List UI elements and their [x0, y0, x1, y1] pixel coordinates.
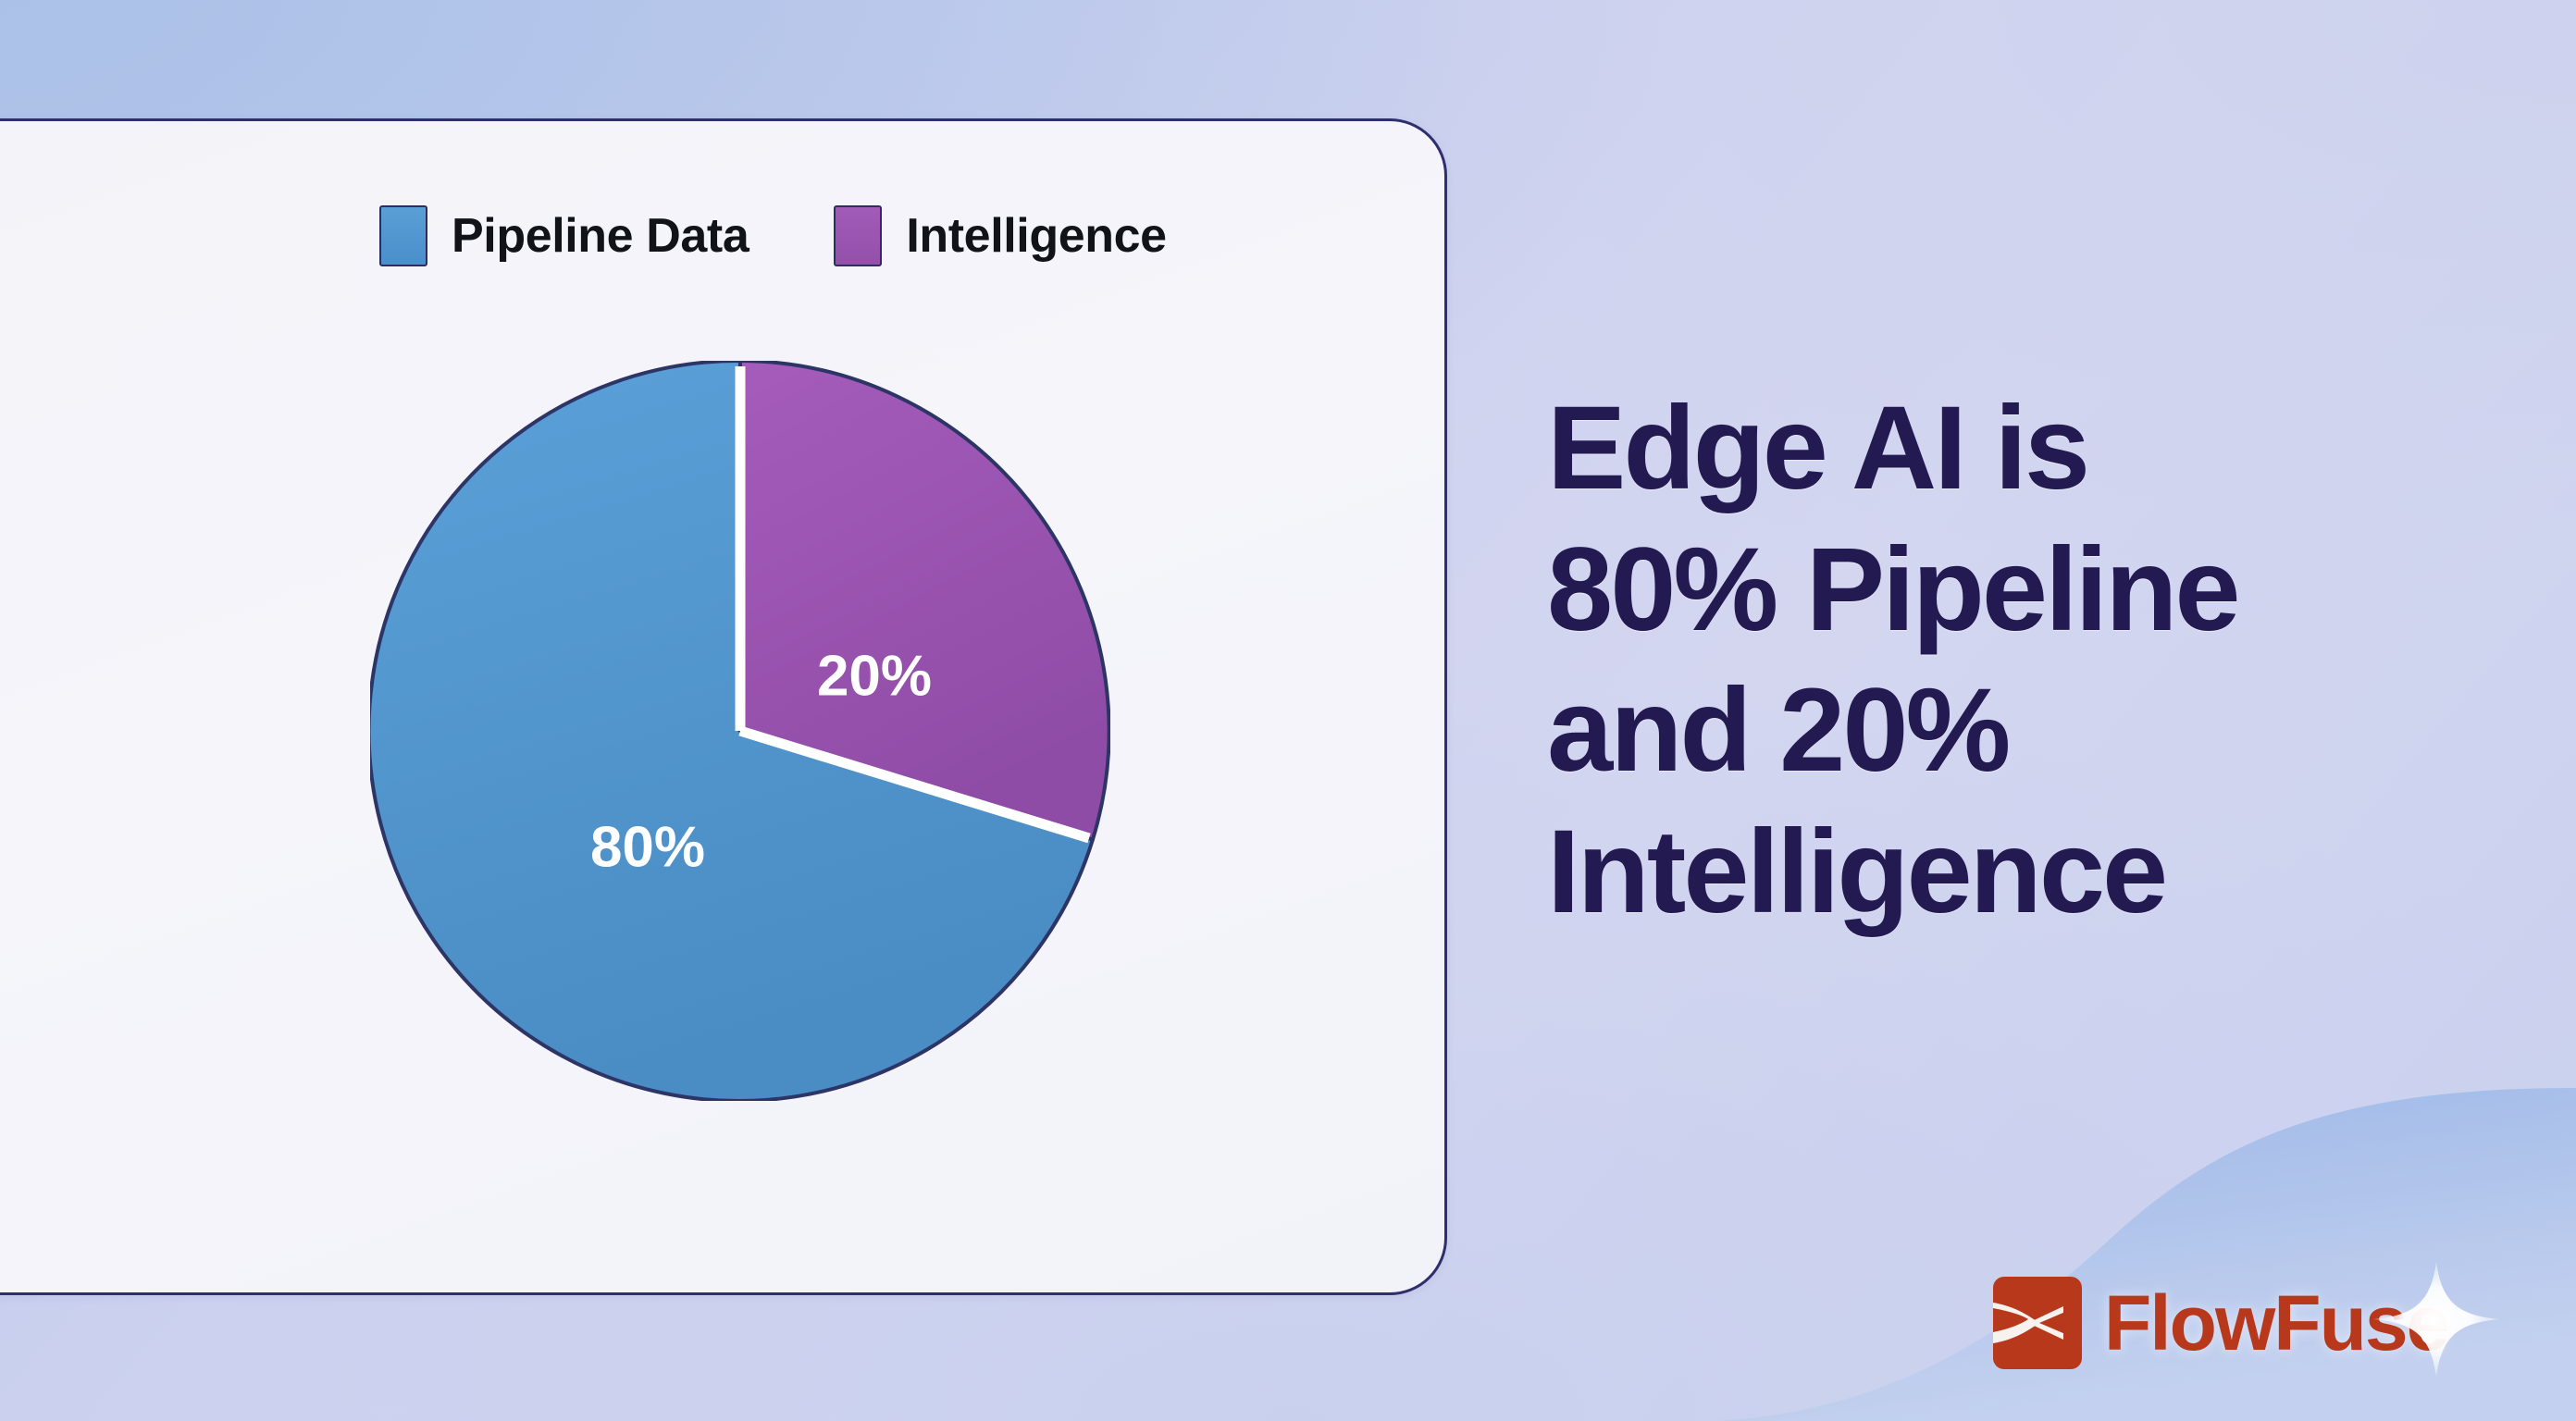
brand-logo[interactable]: FlowFuse — [1991, 1275, 2447, 1371]
headline-line-4: Intelligence — [1547, 812, 2491, 933]
pie-chart-svg: 20% 80% — [370, 361, 1110, 1101]
legend-label-pipeline-data: Pipeline Data — [452, 208, 749, 264]
legend-item-intelligence[interactable]: Intelligence — [834, 205, 1166, 266]
chart-legend: Pipeline Data Intelligence — [379, 205, 1167, 266]
pie-value-label-pipeline-data: 80% — [590, 815, 705, 879]
legend-swatch-icon-intelligence — [834, 205, 882, 266]
flowfuse-logo-icon — [1991, 1275, 2084, 1371]
legend-swatch-icon-pipeline-data — [379, 205, 427, 266]
headline: Edge AI is 80% Pipeline and 20% Intellig… — [1547, 389, 2491, 933]
pie-value-label-intelligence: 20% — [817, 644, 932, 708]
brand-name: FlowFuse — [2104, 1284, 2447, 1362]
legend-label-intelligence: Intelligence — [906, 208, 1166, 264]
slide-canvas: Pipeline Data Intelligence — [0, 0, 2576, 1421]
headline-line-3: and 20% — [1547, 671, 2491, 792]
legend-item-pipeline-data[interactable]: Pipeline Data — [379, 205, 749, 266]
headline-line-1: Edge AI is — [1547, 389, 2491, 510]
pie-chart: 20% 80% — [370, 361, 1110, 1101]
headline-line-2: 80% Pipeline — [1547, 530, 2491, 651]
